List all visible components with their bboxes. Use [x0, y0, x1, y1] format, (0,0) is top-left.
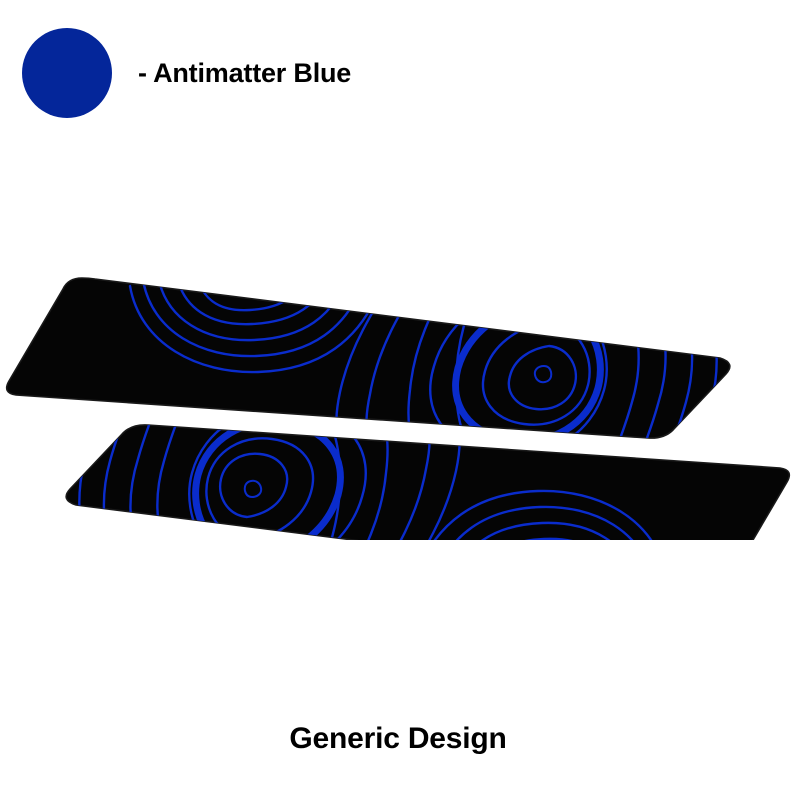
- contour-decal-svg: [0, 250, 796, 540]
- design-caption: Generic Design: [0, 722, 796, 756]
- decal-artwork: [0, 250, 796, 540]
- artboard: - Antimatter Blue: [0, 0, 796, 797]
- color-name-label: - Antimatter Blue: [138, 58, 351, 89]
- lower-panel-body: [66, 425, 789, 540]
- color-legend: - Antimatter Blue: [22, 28, 351, 118]
- color-swatch-circle: [22, 28, 112, 118]
- upper-decal-panel: [7, 270, 796, 456]
- upper-panel-body: [7, 278, 730, 438]
